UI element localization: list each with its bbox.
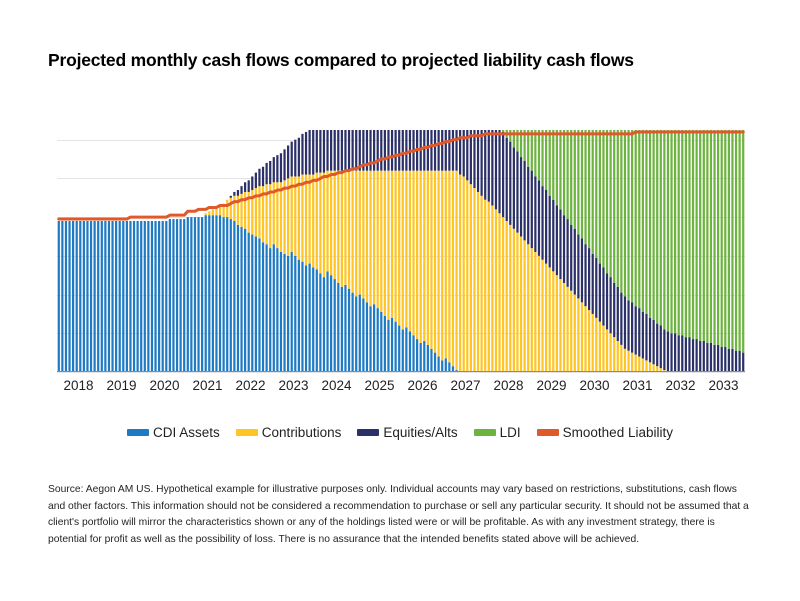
- bar-segment: [674, 130, 676, 333]
- bar-segment: [319, 273, 321, 372]
- bar-segment: [742, 353, 744, 372]
- bar-segment: [359, 130, 361, 171]
- bar-segment: [703, 341, 705, 372]
- bar-segment: [488, 130, 490, 202]
- bar-segment: [309, 175, 311, 264]
- bar-segment: [549, 267, 551, 372]
- bar-segment: [190, 217, 192, 372]
- bar-segment: [276, 248, 278, 372]
- bar-segment: [502, 132, 504, 217]
- bar-segment: [237, 225, 239, 372]
- bar-segment: [430, 130, 432, 171]
- bar-segment: [574, 295, 576, 372]
- source-footnote: Source: Aegon AM US. Hypothetical exampl…: [48, 482, 754, 549]
- bar-segment: [119, 221, 121, 372]
- bar-segment: [369, 171, 371, 307]
- bar-segment: [549, 130, 551, 196]
- bar-segment: [147, 221, 149, 372]
- bar-segment: [341, 130, 343, 171]
- bar-segment: [316, 269, 318, 372]
- bar-segment: [337, 171, 339, 283]
- bar-segment: [434, 130, 436, 171]
- bar-segment: [498, 130, 500, 213]
- bar-segment: [653, 130, 655, 320]
- bar-segment: [538, 130, 540, 180]
- bar-segment: [635, 130, 637, 306]
- bar-segment: [527, 130, 529, 167]
- bar-segment: [140, 221, 142, 372]
- bar-segment: [187, 217, 189, 372]
- bar-segment: [455, 130, 457, 171]
- legend-item[interactable]: LDI: [474, 425, 521, 440]
- bar-segment: [516, 233, 518, 372]
- bar-segment: [488, 202, 490, 372]
- bar-segment: [330, 275, 332, 372]
- bar-segment: [266, 163, 268, 184]
- bar-segment: [420, 343, 422, 372]
- bar-segment: [574, 130, 576, 229]
- bar-segment: [205, 215, 207, 372]
- bar-segment: [473, 188, 475, 372]
- legend-label: CDI Assets: [153, 425, 220, 440]
- bar-segment: [86, 221, 88, 372]
- bar-segment: [409, 171, 411, 332]
- bar-segment: [627, 351, 629, 372]
- legend-swatch-icon: [474, 429, 496, 436]
- bar-segment: [423, 341, 425, 372]
- bar-segment: [111, 221, 113, 372]
- bar-segment: [237, 190, 239, 196]
- bar-segment: [58, 221, 60, 372]
- bar-segment: [344, 171, 346, 285]
- bar-segment: [617, 341, 619, 372]
- bar-segment: [696, 339, 698, 372]
- bar-segment: [552, 200, 554, 272]
- bar-segment: [108, 221, 110, 372]
- bar-segment: [280, 252, 282, 372]
- legend-label: Contributions: [262, 425, 342, 440]
- bar-segment: [384, 171, 386, 316]
- bar-segment: [258, 169, 260, 186]
- bar-segment: [470, 184, 472, 372]
- bar-segment: [162, 221, 164, 372]
- bar-segment: [402, 171, 404, 330]
- bar-segment: [427, 130, 429, 171]
- bar-segment: [262, 242, 264, 372]
- bar-segment: [559, 130, 561, 209]
- bar-segment: [506, 138, 508, 221]
- bar-segment: [409, 331, 411, 372]
- bar-segment: [610, 277, 612, 333]
- bar-segment: [699, 130, 701, 341]
- bar-segment: [395, 130, 397, 171]
- bar-segment: [226, 217, 228, 372]
- bar-segment: [663, 130, 665, 329]
- bar-segment: [484, 130, 486, 200]
- bar-segment: [183, 219, 185, 372]
- bar-segment: [638, 130, 640, 308]
- bar-segment: [230, 198, 232, 219]
- bar-segment: [642, 312, 644, 358]
- bar-segment: [688, 130, 690, 337]
- bar-segment: [230, 196, 232, 198]
- bar-segment: [294, 176, 296, 255]
- bar-segment: [506, 221, 508, 372]
- bar-segment: [728, 130, 730, 349]
- bar-segment: [592, 314, 594, 372]
- bar-segment: [402, 329, 404, 372]
- legend-item[interactable]: Smoothed Liability: [537, 425, 673, 440]
- bar-segment: [244, 182, 246, 192]
- bar-segment: [570, 225, 572, 291]
- bar-segment: [348, 289, 350, 372]
- bar-segment: [283, 254, 285, 372]
- bar-segment: [208, 215, 210, 372]
- bar-segment: [151, 221, 153, 372]
- bar-segment: [513, 147, 515, 228]
- bar-segment: [319, 130, 321, 173]
- bar-segment: [380, 171, 382, 312]
- bar-segment: [373, 171, 375, 305]
- bar-segment: [144, 221, 146, 372]
- bar-segment: [104, 221, 106, 372]
- bar-segment: [527, 167, 529, 244]
- bar-segment: [620, 345, 622, 372]
- bar-segment: [574, 229, 576, 295]
- bar-segment: [298, 260, 300, 372]
- smoothed-liability-line: [59, 132, 743, 219]
- bar-segment: [377, 130, 379, 171]
- bar-segment: [502, 130, 504, 132]
- bar-segment: [337, 130, 339, 171]
- bar-segment: [667, 331, 669, 372]
- bar-segment: [703, 130, 705, 341]
- bar-segment: [452, 130, 454, 171]
- bar-segment: [341, 287, 343, 372]
- bar-segment: [563, 283, 565, 372]
- bar-segment: [602, 267, 604, 325]
- bar-segment: [541, 186, 543, 260]
- bar-segment: [728, 349, 730, 372]
- bar-segment: [448, 130, 450, 171]
- bar-segment: [524, 161, 526, 240]
- bar-segment: [670, 130, 672, 333]
- bar-segment: [527, 244, 529, 372]
- bar-segment: [248, 180, 250, 192]
- bar-segment: [251, 235, 253, 372]
- bar-segment: [595, 130, 597, 258]
- bar-segment: [534, 176, 536, 252]
- bar-segment: [362, 171, 364, 299]
- bar-segment: [452, 171, 454, 367]
- bar-segment: [352, 130, 354, 171]
- bar-segment: [294, 140, 296, 177]
- bar-segment: [498, 213, 500, 372]
- legend-swatch-icon: [537, 429, 559, 436]
- bar-segment: [291, 252, 293, 372]
- bar-segment: [567, 287, 569, 372]
- bar-segment: [283, 149, 285, 180]
- bar-segment: [567, 219, 569, 287]
- bar-segment: [610, 130, 612, 277]
- bar-segment: [212, 209, 214, 215]
- bar-segment: [509, 225, 511, 372]
- bar-segment: [94, 221, 96, 372]
- bar-segment: [509, 142, 511, 225]
- bar-segment: [588, 248, 590, 310]
- bar-segment: [384, 130, 386, 171]
- bar-segment: [534, 130, 536, 176]
- x-axis-tick-2033: 2033: [708, 378, 738, 393]
- bar-segment: [459, 175, 461, 372]
- bar-segment: [620, 293, 622, 345]
- bar-segment: [642, 130, 644, 312]
- legend-item[interactable]: Contributions: [236, 425, 342, 440]
- x-axis-tick-2030: 2030: [579, 378, 609, 393]
- bar-segment: [258, 238, 260, 372]
- bar-segment: [348, 130, 350, 171]
- bar-segment: [731, 349, 733, 372]
- bar-segment: [606, 130, 608, 273]
- legend-swatch-icon: [127, 429, 149, 436]
- bar-segment: [678, 335, 680, 372]
- bar-segment: [126, 221, 128, 372]
- bar-segment: [316, 130, 318, 173]
- bar-segment: [83, 221, 85, 372]
- bar-segment: [405, 327, 407, 372]
- x-axis-tick-2018: 2018: [63, 378, 93, 393]
- bar-segment: [412, 335, 414, 372]
- bar-segment: [595, 258, 597, 318]
- bar-segment: [154, 221, 156, 372]
- bar-segment: [366, 171, 368, 303]
- bar-segment: [495, 130, 497, 209]
- bar-segment: [298, 138, 300, 177]
- bar-segment: [656, 324, 658, 367]
- bar-segment: [212, 215, 214, 372]
- bar-segment: [627, 300, 629, 350]
- bar-segment: [384, 316, 386, 372]
- bar-segment: [427, 345, 429, 372]
- bar-segment: [552, 271, 554, 372]
- x-axis-tick-2032: 2032: [665, 378, 695, 393]
- bar-segment: [724, 130, 726, 347]
- bar-segment: [341, 171, 343, 287]
- bar-segment: [610, 333, 612, 372]
- bar-segment: [316, 173, 318, 270]
- x-axis-labels: 2018201920202021202220232024202520262027…: [57, 378, 745, 398]
- bar-segment: [269, 248, 271, 372]
- bar-segment: [481, 130, 483, 196]
- x-axis-tick-2019: 2019: [106, 378, 136, 393]
- bar-segment: [305, 132, 307, 175]
- bar-segment: [387, 130, 389, 171]
- bar-segment: [79, 221, 81, 372]
- bar-segment: [448, 171, 450, 363]
- bar-segment: [581, 302, 583, 372]
- legend-item[interactable]: CDI Assets: [127, 425, 220, 440]
- bar-segment: [721, 130, 723, 347]
- bar-segment: [556, 275, 558, 372]
- bar-segment: [323, 130, 325, 173]
- bar-segment: [65, 221, 67, 372]
- bar-segment: [531, 130, 533, 171]
- bar-segment: [445, 130, 447, 171]
- bar-segment: [484, 200, 486, 372]
- bar-segment: [717, 130, 719, 345]
- bar-segment: [463, 176, 465, 372]
- gridline: [57, 372, 745, 373]
- bar-segment: [395, 322, 397, 372]
- bar-segment: [344, 285, 346, 372]
- bar-segment: [309, 264, 311, 372]
- bar-segment: [624, 349, 626, 372]
- bar-segment: [101, 221, 103, 372]
- bar-segment: [660, 130, 662, 326]
- bar-segment: [208, 211, 210, 215]
- bar-segment: [516, 151, 518, 232]
- bar-segment: [735, 351, 737, 372]
- bar-segment: [577, 235, 579, 299]
- bar-segment: [477, 130, 479, 192]
- bar-segment: [423, 130, 425, 171]
- bar-segment: [391, 171, 393, 318]
- bar-segment: [68, 221, 70, 372]
- bar-segment: [416, 339, 418, 372]
- bar-segment: [387, 320, 389, 372]
- bar-segment: [312, 175, 314, 268]
- bar-segment: [653, 320, 655, 365]
- bar-segment: [713, 345, 715, 372]
- x-axis-tick-2026: 2026: [407, 378, 437, 393]
- bar-segment: [223, 217, 225, 372]
- bar-segment: [559, 209, 561, 279]
- bar-segment: [115, 221, 117, 372]
- bar-segment: [710, 343, 712, 372]
- bar-segment: [280, 182, 282, 252]
- bar-segment: [233, 196, 235, 221]
- bar-segment: [602, 326, 604, 372]
- bar-segment: [330, 171, 332, 276]
- bar-segment: [380, 130, 382, 171]
- bar-segment: [570, 291, 572, 372]
- x-axis-line: [57, 371, 745, 373]
- bar-segment: [122, 221, 124, 372]
- bar-segment: [584, 306, 586, 372]
- bar-segment: [366, 302, 368, 372]
- bar-segment: [438, 130, 440, 171]
- bar-segment: [72, 221, 74, 372]
- bar-segment: [226, 200, 228, 217]
- bar-segment: [570, 130, 572, 225]
- legend-label: LDI: [500, 425, 521, 440]
- bar-segment: [377, 171, 379, 308]
- x-axis-tick-2029: 2029: [536, 378, 566, 393]
- bar-segment: [631, 302, 633, 352]
- bar-segment: [373, 304, 375, 372]
- bar-segment: [326, 130, 328, 171]
- bar-segment: [326, 271, 328, 372]
- bar-segment: [244, 192, 246, 229]
- bar-segment: [423, 171, 425, 341]
- bar-segment: [563, 130, 565, 215]
- bar-segment: [739, 351, 741, 372]
- bar-segment: [631, 130, 633, 302]
- bar-segment: [731, 130, 733, 349]
- bar-segment: [180, 219, 182, 372]
- bar-segment: [319, 173, 321, 274]
- bar-segment: [355, 171, 357, 297]
- bar-segment: [584, 244, 586, 306]
- bar-segment: [369, 306, 371, 372]
- x-axis-tick-2020: 2020: [149, 378, 179, 393]
- bar-segment: [670, 333, 672, 372]
- bar-segment: [434, 353, 436, 372]
- bar-segment: [531, 248, 533, 372]
- bar-segment: [273, 244, 275, 372]
- bar-segment: [312, 130, 314, 175]
- legend-label: Equities/Alts: [383, 425, 457, 440]
- bar-segment: [230, 219, 232, 372]
- chart-plot-area: [57, 130, 745, 372]
- bar-segment: [627, 130, 629, 300]
- bar-segment: [430, 171, 432, 349]
- bar-segment: [334, 130, 336, 171]
- bar-segment: [326, 171, 328, 272]
- bar-segment: [581, 238, 583, 302]
- bar-segment: [613, 283, 615, 337]
- bar-segment: [133, 221, 135, 372]
- legend-swatch-icon: [357, 429, 379, 436]
- bar-segment: [649, 318, 651, 363]
- bar-segment: [513, 229, 515, 372]
- bar-segment: [334, 279, 336, 372]
- bar-segment: [240, 186, 242, 194]
- bar-segment: [233, 192, 235, 196]
- bar-segment: [567, 130, 569, 219]
- bar-segment: [305, 266, 307, 372]
- bar-segment: [495, 209, 497, 372]
- bar-segment: [248, 233, 250, 372]
- bar-segment: [742, 130, 744, 353]
- x-axis-tick-2022: 2022: [235, 378, 265, 393]
- bar-segment: [559, 279, 561, 372]
- page-title: Projected monthly cash flows compared to…: [48, 50, 748, 71]
- bar-segment: [398, 326, 400, 372]
- bar-segment: [713, 130, 715, 345]
- bar-segment: [255, 173, 257, 188]
- x-axis-tick-2023: 2023: [278, 378, 308, 393]
- bar-segment: [352, 171, 354, 293]
- bar-segment: [323, 277, 325, 372]
- bar-segment: [599, 322, 601, 372]
- bar-segment: [617, 287, 619, 341]
- bar-segment: [441, 171, 443, 361]
- bar-segment: [599, 264, 601, 322]
- bar-segment: [172, 219, 174, 372]
- bar-segment: [724, 347, 726, 372]
- bar-segment: [699, 341, 701, 372]
- x-axis-tick-2027: 2027: [450, 378, 480, 393]
- bar-segment: [391, 318, 393, 372]
- legend-item[interactable]: Equities/Alts: [357, 425, 457, 440]
- bar-segment: [660, 326, 662, 369]
- x-axis-tick-2024: 2024: [321, 378, 351, 393]
- bar-segment: [197, 217, 199, 372]
- bar-segment: [595, 318, 597, 372]
- legend-swatch-icon: [236, 429, 258, 436]
- bar-segment: [129, 221, 131, 372]
